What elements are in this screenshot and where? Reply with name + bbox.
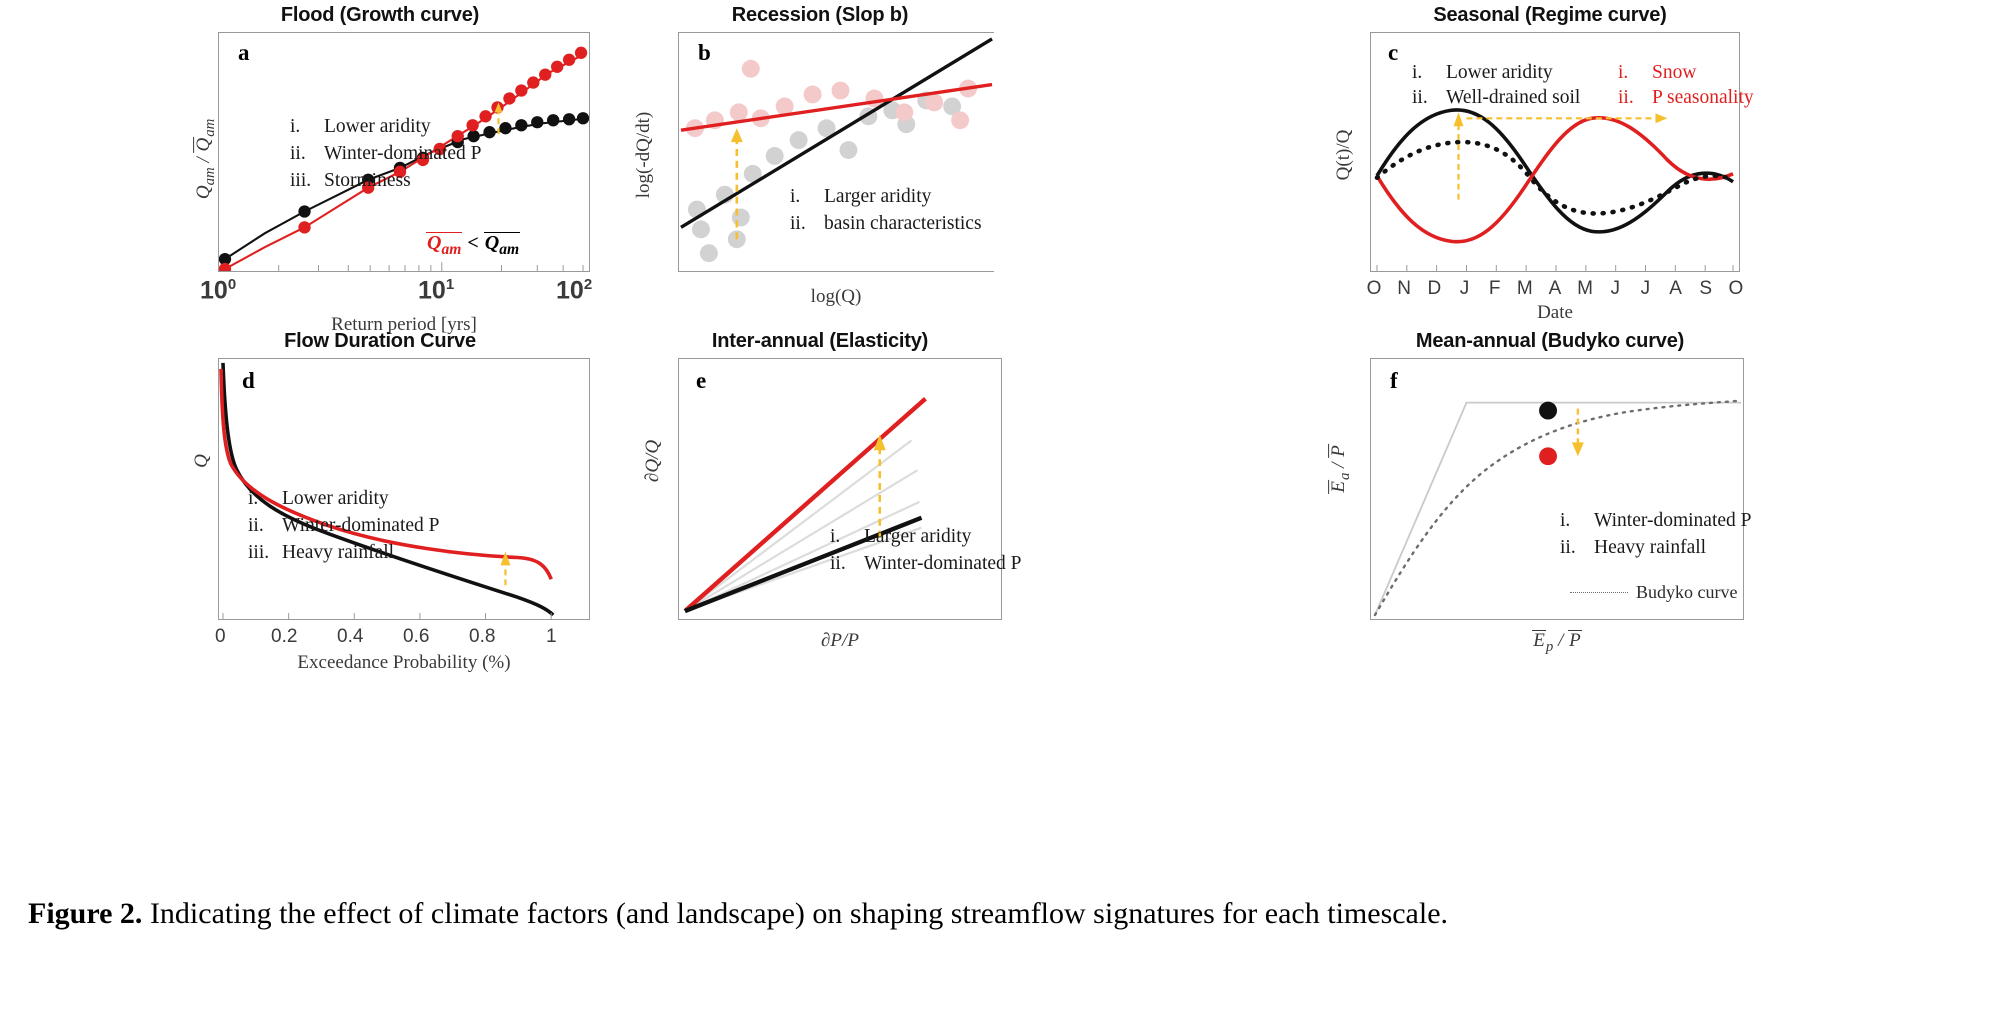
panel-e-xlabel: ∂P/P <box>678 630 1002 652</box>
month-tick: S <box>1696 278 1716 300</box>
panel-d-ylabel: Q <box>191 421 213 501</box>
legend-text: P seasonality <box>1652 87 1754 109</box>
panel-d: Flow Duration Curve d Q i.Lower aridity … <box>150 330 610 660</box>
panel-d-xtick-4: 0.8 <box>469 626 495 648</box>
month-tick: O <box>1364 278 1384 300</box>
panel-c-title: Seasonal (Regime curve) <box>1350 4 1750 27</box>
panel-b: Recession (Slop b) <box>620 4 1020 324</box>
legend-text: Well-drained soil <box>1446 87 1580 109</box>
legend-num: ii. <box>830 553 864 575</box>
legend-num: i. <box>1560 510 1594 532</box>
panel-a-xtick-2: 102 <box>556 276 592 305</box>
panel-c-legend-black: i.Lower aridity ii.Well-drained soil <box>1412 62 1580 112</box>
legend-item: i.Larger aridity <box>790 186 982 208</box>
legend-item: i.Lower aridity <box>290 116 482 138</box>
figure-page: Flood (Growth curve) <box>0 0 2000 1036</box>
panel-b-xlabel: log(Q) <box>678 286 994 308</box>
legend-text: Larger aridity <box>824 186 931 208</box>
panel-e-legend: i.Larger aridity ii.Winter-dominated P <box>830 526 1022 580</box>
panel-a-label: a <box>238 40 250 66</box>
panel-b-label: b <box>698 40 711 66</box>
panel-d-legend: i.Lower aridity ii.Winter-dominated P ii… <box>248 488 440 569</box>
legend-num: i. <box>248 488 282 510</box>
legend-item: iii.Storminess <box>290 170 482 192</box>
budyko-curve-line-icon <box>1570 592 1628 593</box>
panel-a-legend: i.Lower aridity ii.Winter-dominated P ii… <box>290 116 482 197</box>
panel-f-title: Mean-annual (Budyko curve) <box>1350 330 1750 353</box>
legend-num: iii. <box>248 542 282 564</box>
panel-a-xtick-1: 101 <box>418 276 454 305</box>
legend-item: i.Winter-dominated P <box>1560 510 1752 532</box>
legend-item: ii.Winter-dominated P <box>830 553 1022 575</box>
panel-a-xtick-0: 100 <box>200 276 236 305</box>
month-tick: J <box>1605 278 1625 300</box>
legend-num: ii. <box>290 143 324 165</box>
panel-d-xtick-0: 0 <box>215 626 226 648</box>
panel-d-xlabel: Exceedance Probability (%) <box>208 652 600 674</box>
panel-d-label: d <box>242 368 255 394</box>
legend-item: ii.Winter-dominated P <box>248 515 440 537</box>
month-tick: D <box>1424 278 1444 300</box>
panel-f-ylabel: Ea / P <box>1328 414 1354 524</box>
legend-text: Winter-dominated P <box>324 143 482 165</box>
legend-text: Heavy rainfall <box>282 542 394 564</box>
caption-text: Indicating the effect of climate factors… <box>142 897 1448 930</box>
legend-item: ii.Heavy rainfall <box>1560 537 1752 559</box>
legend-text: Lower aridity <box>282 488 389 510</box>
legend-num: i. <box>290 116 324 138</box>
panel-c-xticks: O N D J F M A M J J A S O <box>1364 278 1746 300</box>
panel-d-xtick-2: 0.4 <box>337 626 363 648</box>
panel-d-xtick-5: 1 <box>546 626 557 648</box>
panel-b-title: Recession (Slop b) <box>620 4 1020 27</box>
legend-num: i. <box>1618 62 1652 84</box>
legend-text: Larger aridity <box>864 526 971 548</box>
month-tick: M <box>1515 278 1535 300</box>
panel-e-plot <box>679 359 1001 619</box>
panel-a: Flood (Growth curve) <box>150 4 610 324</box>
legend-item: ii.basin characteristics <box>790 213 982 235</box>
caption-label: Figure 2. <box>28 897 142 930</box>
legend-text: Snow <box>1652 62 1696 84</box>
panel-e-ylabel: ∂Q/Q <box>642 416 664 506</box>
legend-num: iii. <box>290 170 324 192</box>
panel-f: Mean-annual (Budyko curve) f Ea / P i.Wi… <box>1030 330 1450 660</box>
legend-text: Heavy rainfall <box>1594 537 1706 559</box>
panel-f-axes <box>1370 358 1744 620</box>
legend-num: ii. <box>1618 87 1652 109</box>
panel-f-xlabel: Ep / P <box>1370 630 1744 656</box>
legend-text: Winter-dominated P <box>282 515 440 537</box>
panel-d-xtick-3: 0.6 <box>403 626 429 648</box>
legend-num: ii. <box>790 213 824 235</box>
month-tick: N <box>1394 278 1414 300</box>
legend-text: Lower aridity <box>324 116 431 138</box>
legend-num: i. <box>1412 62 1446 84</box>
legend-num: ii. <box>248 515 282 537</box>
legend-item: ii.Well-drained soil <box>1412 87 1580 109</box>
month-tick: J <box>1635 278 1655 300</box>
legend-item: iii.Heavy rainfall <box>248 542 440 564</box>
legend-num: ii. <box>1412 87 1446 109</box>
panel-f-plot <box>1371 359 1743 619</box>
panel-a-ylabel: Qam / Qam <box>193 99 219 219</box>
panel-a-title: Flood (Growth curve) <box>150 4 610 27</box>
panel-c-ylabel: Q(t)/Q <box>1333 95 1355 215</box>
legend-text: basin characteristics <box>824 213 982 235</box>
panel-f-legend: i.Winter-dominated P ii.Heavy rainfall <box>1560 510 1752 564</box>
figure-caption: Figure 2. Indicating the effect of clima… <box>28 886 1978 942</box>
month-tick: A <box>1666 278 1686 300</box>
panel-e-axes <box>678 358 1002 620</box>
legend-num: i. <box>790 186 824 208</box>
month-tick: F <box>1485 278 1505 300</box>
month-tick: A <box>1545 278 1565 300</box>
legend-num: i. <box>830 526 864 548</box>
panel-e-title: Inter-annual (Elasticity) <box>620 330 1020 353</box>
legend-item: i.Lower aridity <box>248 488 440 510</box>
legend-item: i.Snow <box>1618 62 1754 84</box>
month-tick: J <box>1454 278 1474 300</box>
legend-text: Lower aridity <box>1446 62 1553 84</box>
legend-item: ii.P seasonality <box>1618 87 1754 109</box>
legend-text: Winter-dominated P <box>1594 510 1752 532</box>
panel-c-xlabel: Date <box>1370 302 1740 324</box>
panel-f-budyko-key: Budyko curve <box>1570 582 1737 603</box>
panel-d-title: Flow Duration Curve <box>150 330 610 353</box>
legend-item: ii.Winter-dominated P <box>290 143 482 165</box>
budyko-key-label: Budyko curve <box>1636 582 1737 603</box>
legend-text: Winter-dominated P <box>864 553 1022 575</box>
month-tick: O <box>1726 278 1746 300</box>
panel-d-xtick-1: 0.2 <box>271 626 297 648</box>
legend-item: i.Lower aridity <box>1412 62 1580 84</box>
legend-text: Storminess <box>324 170 411 192</box>
legend-item: i.Larger aridity <box>830 526 1022 548</box>
panel-e: Inter-annual (Elasticity) e ∂Q/Q i.Larg <box>620 330 1020 660</box>
panel-f-label: f <box>1390 368 1398 394</box>
panel-b-legend: i.Larger aridity ii.basin characteristic… <box>790 186 982 240</box>
panel-c-label: c <box>1388 40 1398 66</box>
panel-a-inequality: Qam < Qam <box>426 232 520 258</box>
panel-c: Seasonal (Regime curve) <box>1030 4 1450 324</box>
month-tick: M <box>1575 278 1595 300</box>
panel-c-legend-red: i.Snow ii.P seasonality <box>1618 62 1754 112</box>
legend-num: ii. <box>1560 537 1594 559</box>
panel-b-ylabel: log(-dQ/dt) <box>633 95 655 215</box>
panel-e-label: e <box>696 368 706 394</box>
